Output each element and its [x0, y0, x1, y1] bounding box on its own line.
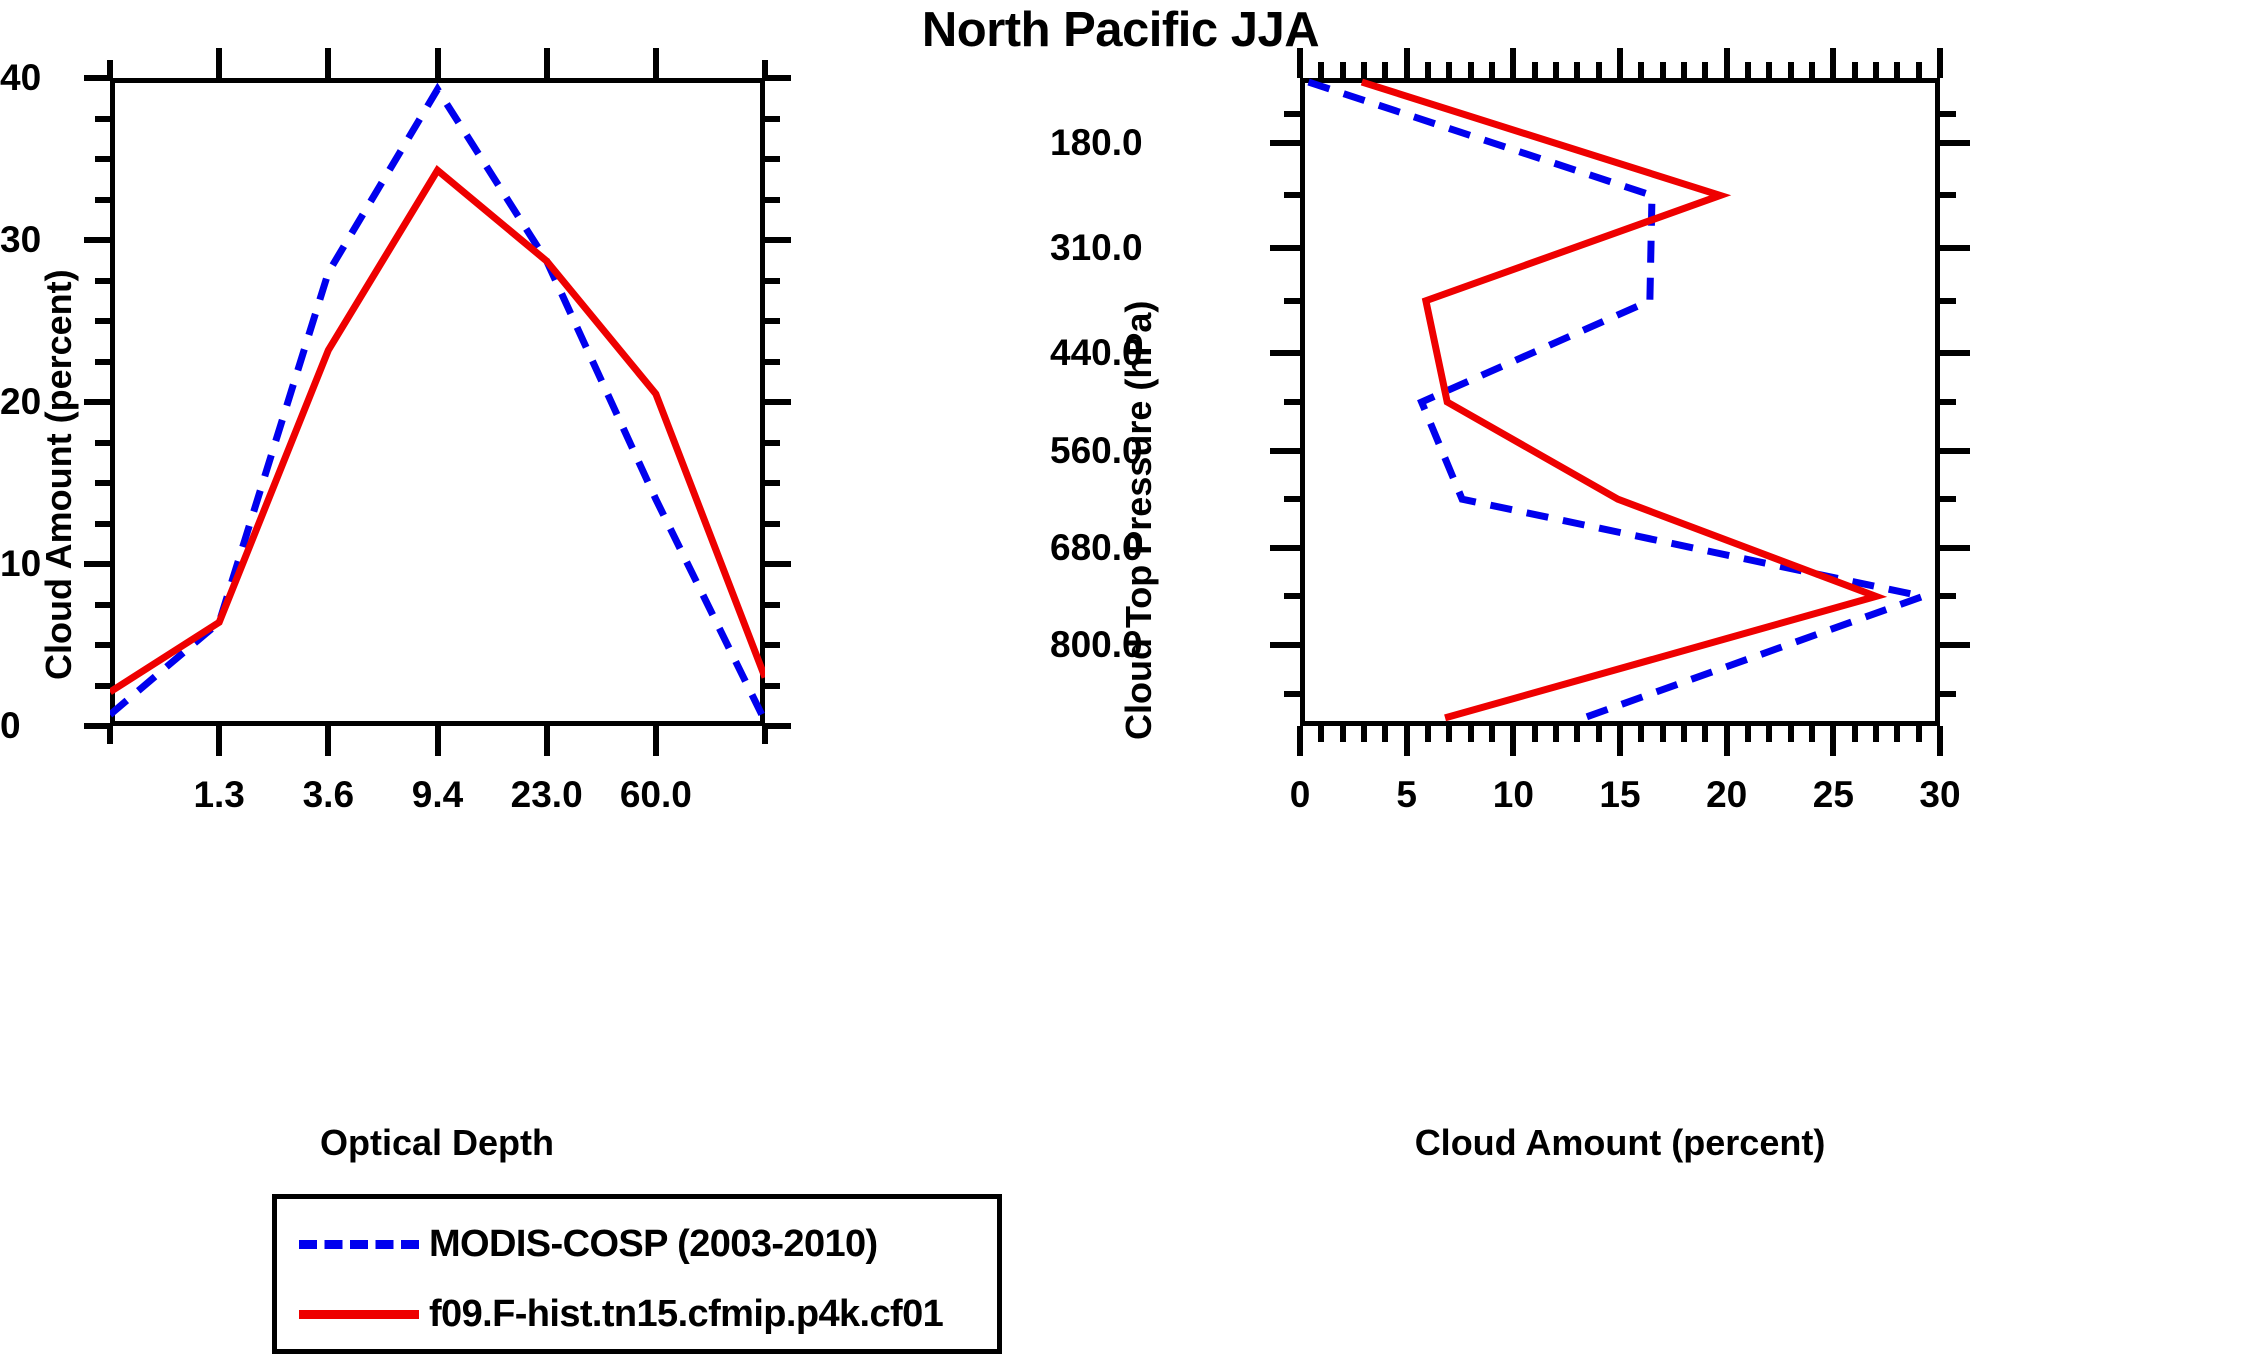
right-y-major-tick-right [1940, 448, 1970, 454]
right-x-minor-tick-top [1766, 62, 1772, 78]
right-x-tick-label: 0 [1290, 774, 1311, 816]
right-y-major-tick-right [1940, 140, 1970, 146]
right-y-major-tick [1270, 448, 1300, 454]
right-y-minor-tick [1284, 111, 1300, 117]
right-x-tick-label: 30 [1919, 774, 1960, 816]
right-x-major-tick-top [1404, 48, 1410, 78]
right-y-major-tick-right [1940, 642, 1970, 648]
right-x-major-tick [1404, 726, 1410, 756]
right-x-minor-tick-top [1425, 62, 1431, 78]
right-x-tick-label: 20 [1706, 774, 1747, 816]
left-x-major-tick [325, 726, 331, 756]
right-x-minor-tick [1596, 726, 1602, 742]
right-y-major-tick [1270, 642, 1300, 648]
left-y-tick-label: 20 [0, 381, 41, 423]
left-y-major-tick [84, 237, 110, 243]
right-x-minor-tick [1574, 726, 1580, 742]
right-x-minor-tick-top [1468, 62, 1474, 78]
left-y-major-tick-right [765, 399, 791, 405]
right-x-minor-tick [1553, 726, 1559, 742]
right-x-minor-tick [1361, 726, 1367, 742]
right-x-tick-label: 25 [1813, 774, 1854, 816]
left-y-minor-tick-right [765, 116, 780, 122]
right-x-minor-tick-top [1745, 62, 1751, 78]
right-y-minor-tick [1284, 399, 1300, 405]
right-y-major-tick [1270, 245, 1300, 251]
right-x-minor-tick [1489, 726, 1495, 742]
right-x-minor-tick [1468, 726, 1474, 742]
right-x-minor-tick [1382, 726, 1388, 742]
left-plot-lines [110, 78, 765, 726]
right-x-minor-tick-top [1553, 62, 1559, 78]
right-x-minor-tick-top [1340, 62, 1346, 78]
right-x-tick-label: 15 [1599, 774, 1640, 816]
right-y-tick-label: 310.0 [1050, 227, 1143, 269]
right-x-minor-tick [1318, 726, 1324, 742]
left-x-major-tick [544, 726, 550, 756]
right-x-minor-tick [1873, 726, 1879, 742]
right-x-minor-tick [1916, 726, 1922, 742]
right-x-minor-tick-top [1446, 62, 1452, 78]
left-y-major-tick [84, 399, 110, 405]
left-y-minor-tick [95, 440, 110, 446]
right-x-minor-tick [1745, 726, 1751, 742]
legend-item-modis: MODIS-COSP (2003-2010) [277, 1209, 997, 1279]
left-x-tick-label: 23.0 [511, 774, 583, 816]
left-y-minor-tick-right [765, 278, 780, 284]
right-x-major-tick-top [1937, 48, 1943, 78]
left-y-minor-tick [95, 642, 110, 648]
right-x-minor-tick [1894, 726, 1900, 742]
right-chart-panel [1300, 78, 1940, 726]
right-y-major-tick [1270, 350, 1300, 356]
right-y-major-tick [1270, 545, 1300, 551]
right-x-minor-tick [1702, 726, 1708, 742]
right-y-minor-tick-right [1940, 298, 1956, 304]
legend-item-model: f09.F-hist.tn15.cfmip.p4k.cf01 [277, 1279, 997, 1349]
right-x-minor-tick-top [1852, 62, 1858, 78]
left-y-minor-tick-right [765, 642, 780, 648]
right-x-minor-tick [1852, 726, 1858, 742]
left-y-minor-tick-right [765, 318, 780, 324]
right-y-minor-tick [1284, 593, 1300, 599]
left-x-tick-label: 9.4 [412, 774, 463, 816]
left-y-minor-tick [95, 318, 110, 324]
right-x-minor-tick [1809, 726, 1815, 742]
right-y-tick-label: 180.0 [1050, 122, 1143, 164]
right-y-minor-tick-right [1940, 399, 1956, 405]
left-y-major-tick-right [765, 237, 791, 243]
left-x-major-tick-top [325, 48, 331, 78]
right-y-minor-tick [1284, 298, 1300, 304]
left-y-minor-tick-right [765, 156, 780, 162]
left-y-tick-label: 40 [0, 57, 41, 99]
left-x-tick-label: 3.6 [303, 774, 354, 816]
left-x-edge-tick-top [762, 60, 768, 78]
right-x-minor-tick-top [1809, 62, 1815, 78]
right-x-minor-tick-top [1532, 62, 1538, 78]
right-x-minor-tick-top [1894, 62, 1900, 78]
left-y-tick-label: 10 [0, 543, 41, 585]
right-x-minor-tick [1532, 726, 1538, 742]
left-x-major-tick [653, 726, 659, 756]
right-y-major-tick [1270, 140, 1300, 146]
left-chart-panel [110, 78, 765, 726]
right-x-major-tick [1937, 726, 1943, 756]
right-x-major-tick-top [1724, 48, 1730, 78]
right-x-tick-label: 5 [1396, 774, 1417, 816]
left-x-major-tick [435, 726, 441, 756]
left-y-axis-title: Cloud Amount (percent) [38, 269, 80, 680]
right-x-minor-tick-top [1638, 62, 1644, 78]
right-x-major-tick-top [1297, 48, 1303, 78]
right-x-minor-tick [1425, 726, 1431, 742]
left-x-major-tick-top [544, 48, 550, 78]
right-x-major-tick-top [1830, 48, 1836, 78]
right-x-minor-tick [1681, 726, 1687, 742]
right-y-minor-tick-right [1940, 111, 1956, 117]
right-x-axis-title: Cloud Amount (percent) [1415, 1122, 1826, 1164]
right-x-minor-tick-top [1318, 62, 1324, 78]
left-y-minor-tick [95, 156, 110, 162]
right-x-minor-tick-top [1681, 62, 1687, 78]
right-y-major-tick-right [1940, 545, 1970, 551]
right-x-minor-tick-top [1916, 62, 1922, 78]
right-x-minor-tick-top [1660, 62, 1666, 78]
left-y-major-tick-right [765, 561, 791, 567]
right-x-minor-tick [1446, 726, 1452, 742]
right-x-minor-tick-top [1489, 62, 1495, 78]
left-x-tick-label: 1.3 [193, 774, 244, 816]
right-y-minor-tick [1284, 192, 1300, 198]
left-y-minor-tick-right [765, 480, 780, 486]
page-title: North Pacific JJA [0, 2, 2241, 58]
left-y-major-tick-right [765, 75, 791, 81]
left-y-tick-label: 0 [0, 705, 21, 747]
right-x-minor-tick-top [1596, 62, 1602, 78]
right-x-major-tick [1617, 726, 1623, 756]
left-y-minor-tick [95, 480, 110, 486]
left-y-minor-tick-right [765, 602, 780, 608]
left-y-minor-tick-right [765, 197, 780, 203]
left-y-minor-tick [95, 278, 110, 284]
left-y-minor-tick [95, 197, 110, 203]
right-y-minor-tick [1284, 691, 1300, 697]
legend-label-modis: MODIS-COSP (2003-2010) [429, 1223, 878, 1266]
left-y-minor-tick [95, 521, 110, 527]
right-x-minor-tick [1788, 726, 1794, 742]
left-y-minor-tick [95, 359, 110, 365]
left-x-axis-title: Optical Depth [320, 1122, 554, 1164]
left-y-major-tick-right [765, 723, 791, 729]
left-y-minor-tick [95, 683, 110, 689]
legend: MODIS-COSP (2003-2010) f09.F-hist.tn15.c… [272, 1194, 1002, 1354]
left-y-minor-tick-right [765, 521, 780, 527]
left-x-major-tick-top [653, 48, 659, 78]
right-y-minor-tick-right [1940, 691, 1956, 697]
left-x-tick-label: 60.0 [620, 774, 692, 816]
right-x-major-tick-top [1617, 48, 1623, 78]
left-x-edge-tick-bottom [762, 726, 768, 744]
right-x-minor-tick [1638, 726, 1644, 742]
left-x-major-tick-top [435, 48, 441, 78]
right-y-minor-tick-right [1940, 192, 1956, 198]
right-x-major-tick [1830, 726, 1836, 756]
right-y-major-tick-right [1940, 245, 1970, 251]
right-y-minor-tick [1284, 496, 1300, 502]
right-x-minor-tick-top [1361, 62, 1367, 78]
right-plot-lines [1300, 78, 1940, 726]
left-y-minor-tick [95, 116, 110, 122]
right-x-minor-tick-top [1574, 62, 1580, 78]
right-y-minor-tick-right [1940, 496, 1956, 502]
right-y-minor-tick-right [1940, 593, 1956, 599]
left-x-major-tick-top [216, 48, 222, 78]
left-y-minor-tick-right [765, 359, 780, 365]
legend-label-model: f09.F-hist.tn15.cfmip.p4k.cf01 [429, 1293, 943, 1336]
left-y-minor-tick-right [765, 440, 780, 446]
left-y-tick-label: 30 [0, 219, 41, 261]
right-x-major-tick-top [1510, 48, 1516, 78]
left-x-edge-tick-bottom [107, 726, 113, 744]
right-y-axis-title: Cloud Top Pressure (hPa) [1118, 301, 1160, 740]
right-x-minor-tick-top [1382, 62, 1388, 78]
left-y-major-tick [84, 561, 110, 567]
left-x-major-tick [216, 726, 222, 756]
right-x-minor-tick [1660, 726, 1666, 742]
right-x-minor-tick [1340, 726, 1346, 742]
legend-swatch-solid [299, 1310, 419, 1319]
right-x-major-tick [1724, 726, 1730, 756]
right-x-major-tick [1297, 726, 1303, 756]
right-x-minor-tick [1766, 726, 1772, 742]
right-x-tick-label: 10 [1493, 774, 1534, 816]
right-x-minor-tick-top [1873, 62, 1879, 78]
right-x-major-tick [1510, 726, 1516, 756]
legend-swatch-dashed [299, 1240, 419, 1249]
right-x-minor-tick-top [1788, 62, 1794, 78]
left-y-minor-tick [95, 602, 110, 608]
left-x-edge-tick-top [107, 60, 113, 78]
right-x-minor-tick-top [1702, 62, 1708, 78]
left-y-minor-tick-right [765, 683, 780, 689]
right-y-major-tick-right [1940, 350, 1970, 356]
